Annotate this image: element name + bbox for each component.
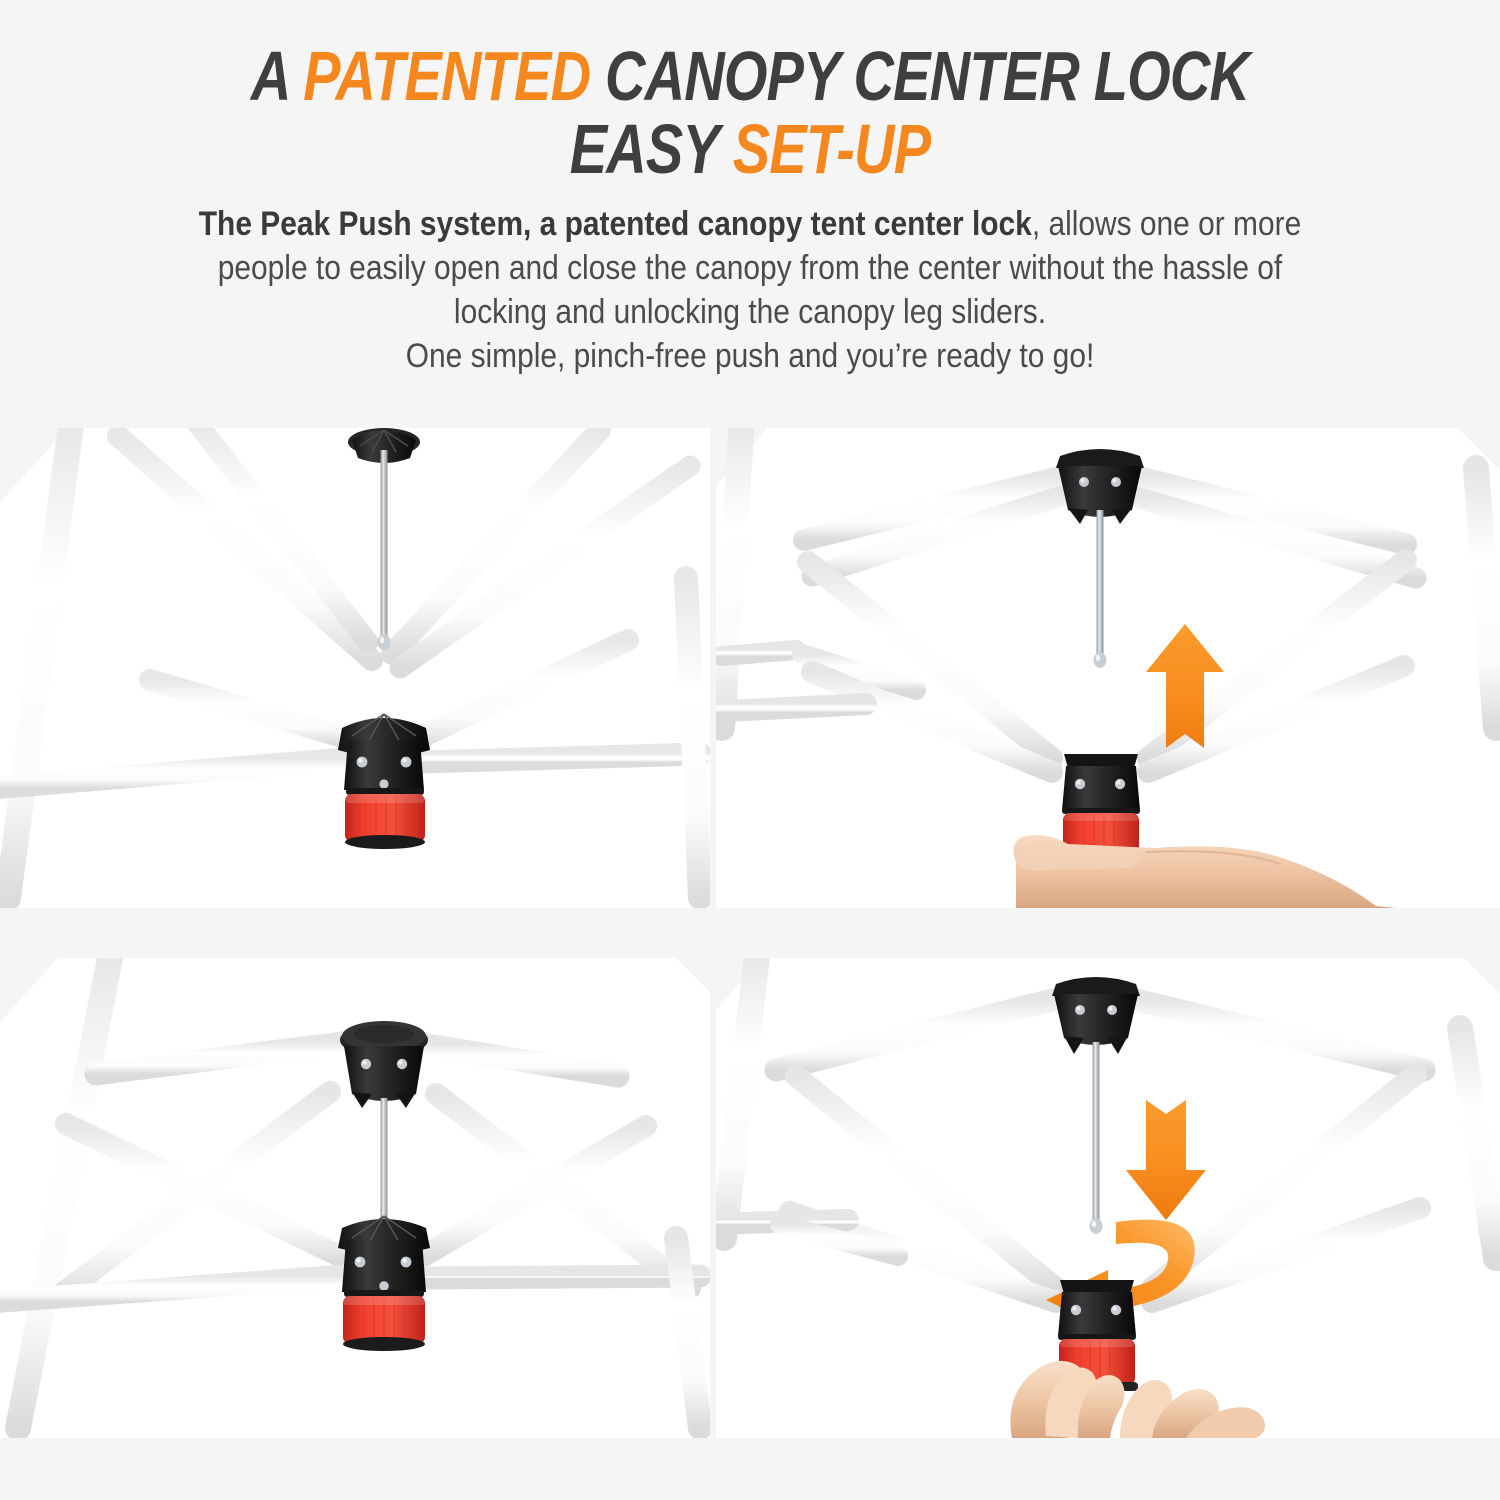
- panel-top-right: [716, 428, 1500, 908]
- center-lock: [1062, 754, 1140, 855]
- title-text-easy: EASY: [570, 110, 733, 188]
- photo-grid: [0, 428, 1500, 1438]
- body-paragraph: The Peak Push system, a patented canopy …: [174, 203, 1327, 335]
- center-lock: [338, 1216, 430, 1351]
- slider-rod-short: [381, 1098, 388, 1222]
- panel-bottom-right: [716, 958, 1500, 1438]
- page-title: A PATENTED CANOPY CENTER LOCK EASY SET-U…: [222, 42, 1278, 183]
- title-text-canopy-center-lock: CANOPY CENTER LOCK: [590, 37, 1249, 115]
- canopy-frame-lock-open-illustration: [0, 428, 710, 908]
- panel-top-left: [0, 428, 710, 908]
- title-highlight-patented: PATENTED: [303, 37, 590, 115]
- header: A PATENTED CANOPY CENTER LOCK EASY SET-U…: [0, 0, 1500, 379]
- canopy-push-up-illustration: [716, 428, 1500, 908]
- body-copy: The Peak Push system, a patented canopy …: [174, 203, 1327, 378]
- title-highlight-setup: SET-UP: [733, 110, 930, 188]
- canopy-frame-lock-closed-illustration: [0, 958, 710, 1438]
- title-text-a: A: [251, 37, 303, 115]
- body-bold-lead: The Peak Push system, a patented canopy …: [199, 205, 1032, 243]
- page-subtitle: EASY SET-UP: [222, 115, 1278, 184]
- center-lock: [338, 714, 430, 849]
- canopy-twist-release-illustration: [716, 958, 1500, 1438]
- photo-row-bottom: [0, 958, 1500, 1438]
- photo-row-top: [0, 428, 1500, 908]
- panel-bottom-left: [0, 958, 710, 1438]
- body-paragraph-last: One simple, pinch-free push and you’re r…: [174, 335, 1327, 379]
- infographic-page: A PATENTED CANOPY CENTER LOCK EASY SET-U…: [0, 0, 1500, 1500]
